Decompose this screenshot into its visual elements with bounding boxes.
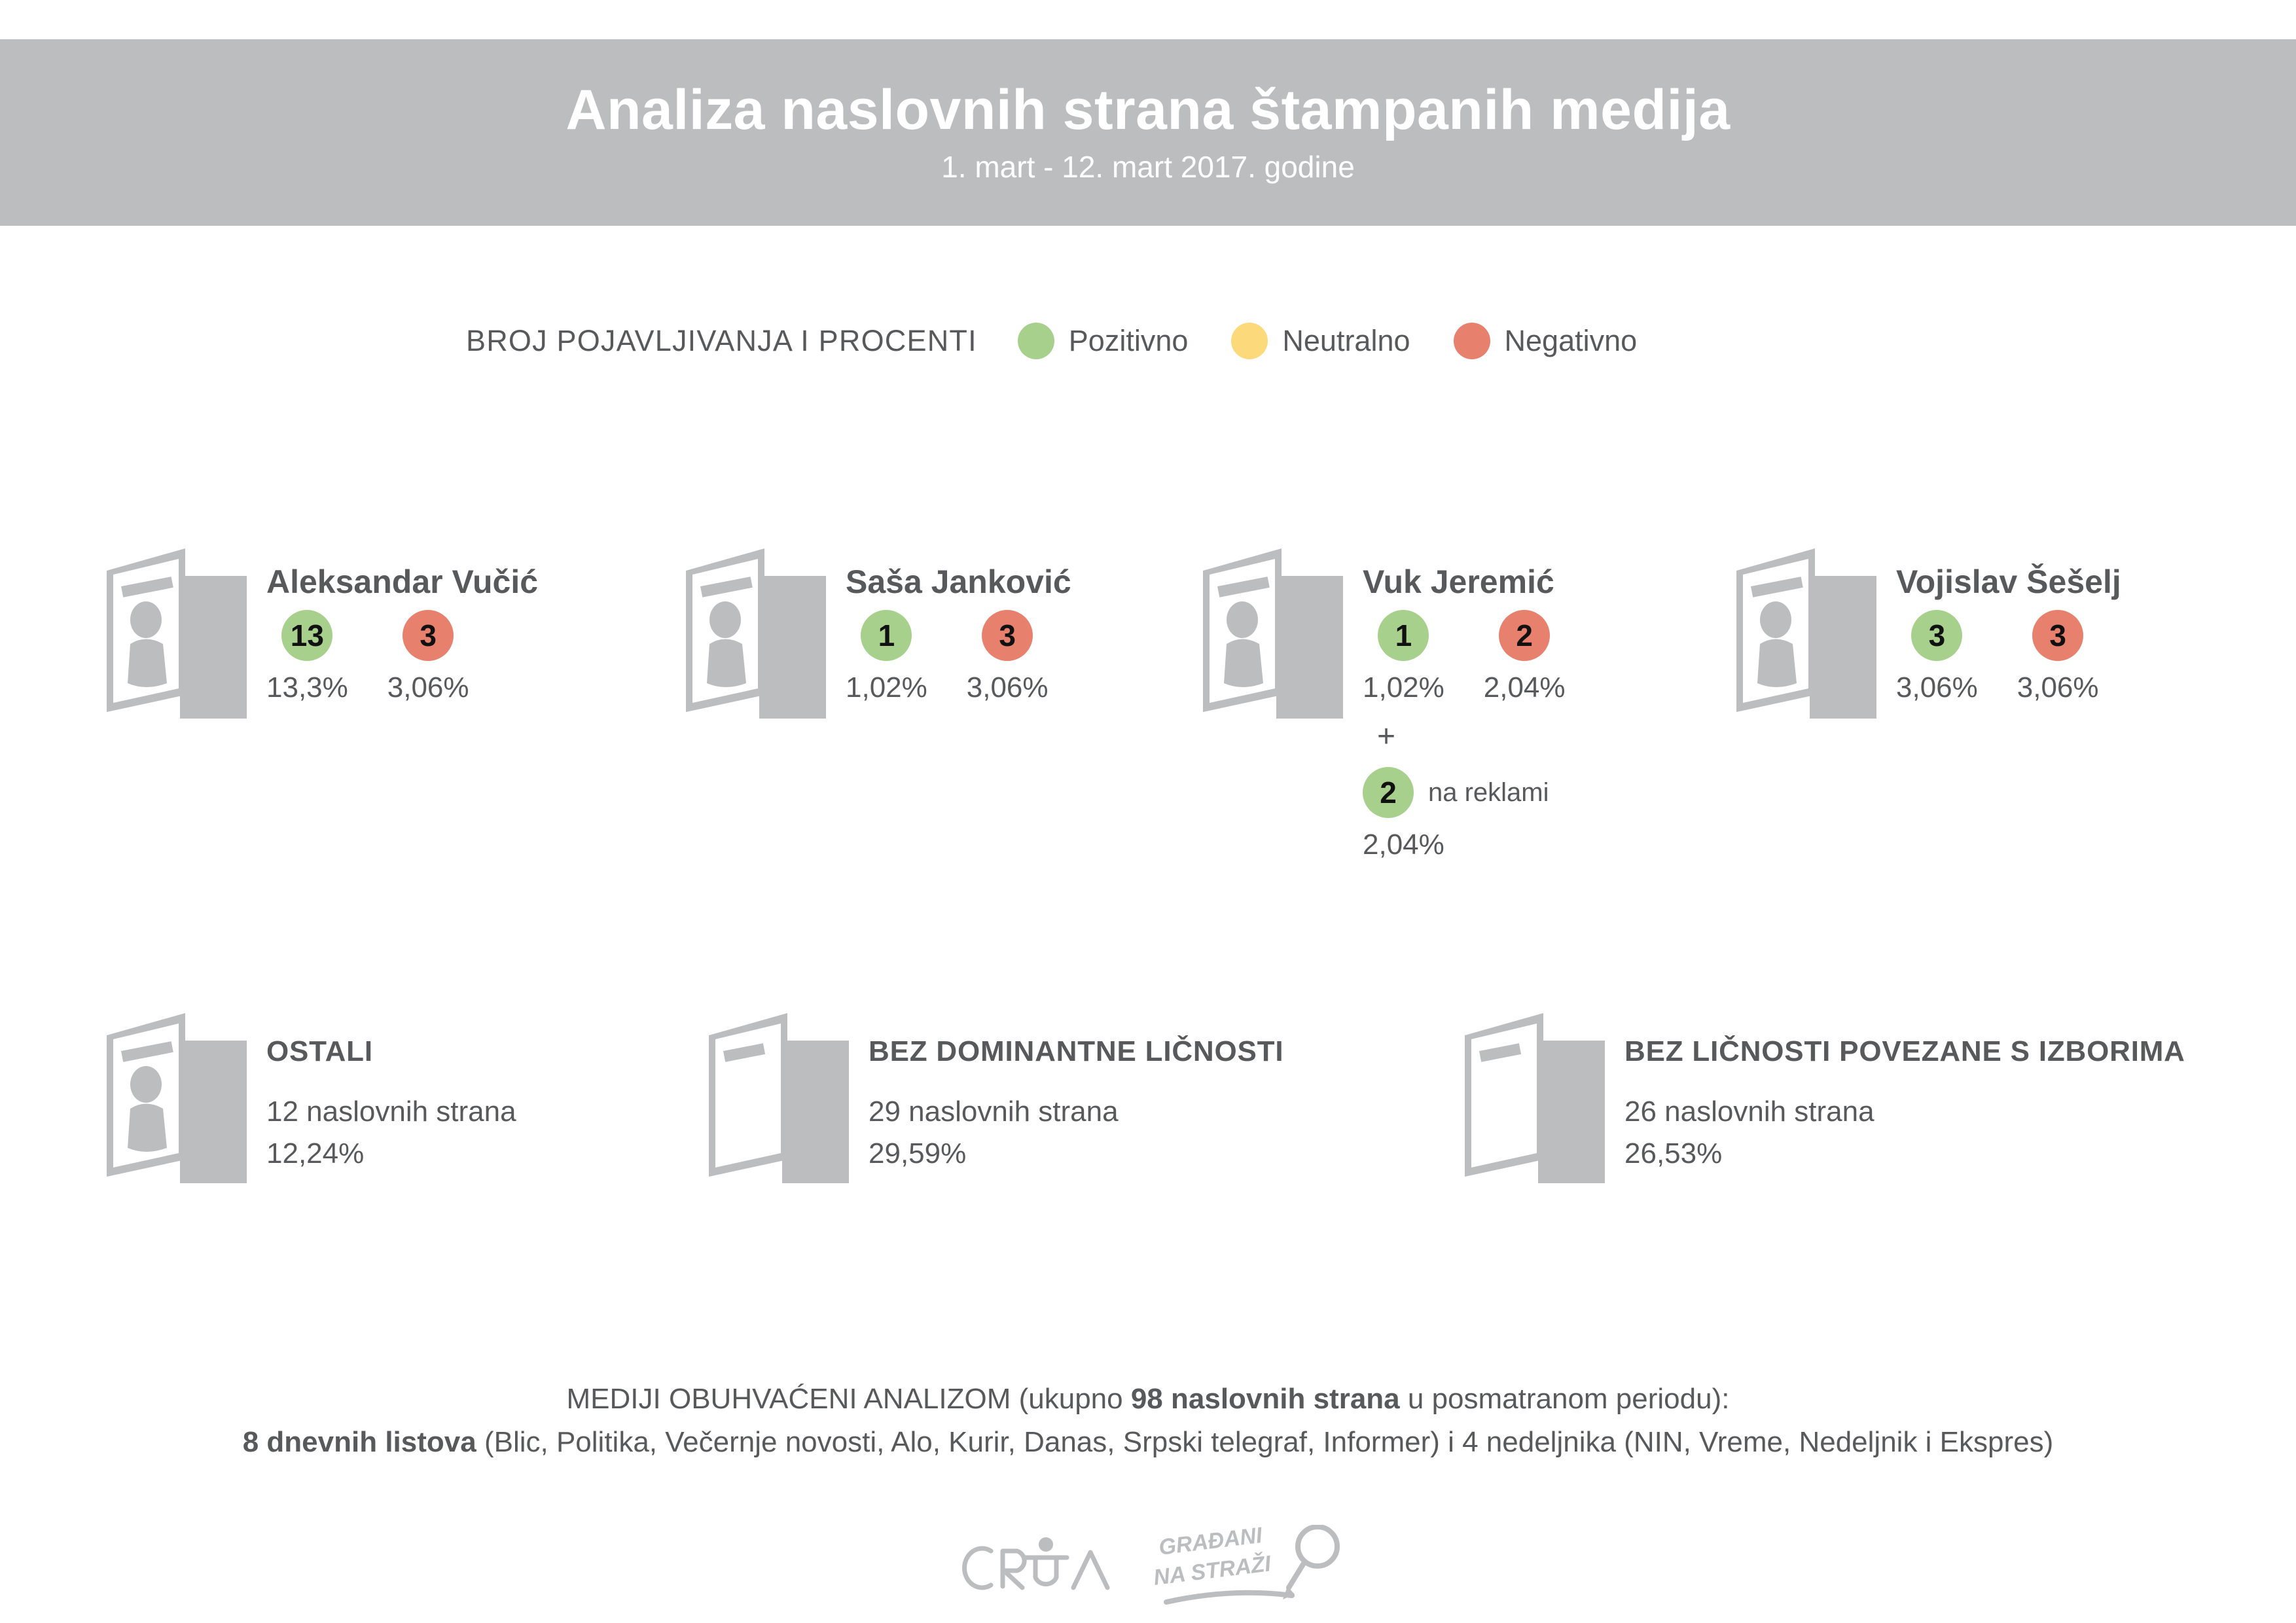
category-card-bez-dominantne-licnosti: BEZ DOMINANTNE LIČNOSTI 29 naslovnih str… — [704, 1008, 1283, 1188]
newspaper-empty-icon — [704, 1008, 854, 1188]
newspaper-with-person-icon — [101, 1008, 252, 1188]
legend-item-negativno: Negativno — [1454, 323, 1638, 359]
person-name: Saša Janković — [846, 563, 1088, 601]
negative-count-badge: 3 — [403, 610, 454, 661]
footer-note: MEDIJI OBUHVAĆENI ANALIZOM (ukupno 98 na… — [0, 1378, 2296, 1464]
legend-item-neutralno: Neutralno — [1231, 323, 1410, 359]
person-card-vuk-jeremic: Vuk Jeremić 1 1,02% 2 2,04% + 2 na rekla… — [1198, 543, 1605, 861]
person-body: Aleksandar Vučić 13 13,3% 3 3,06% — [266, 543, 538, 704]
category-title: BEZ LIČNOSTI POVEZANE S IZBORIMA — [1624, 1035, 2185, 1068]
footer-line1-suffix: u posmatranom periodu): — [1400, 1383, 1730, 1415]
advert-label: na reklami — [1428, 778, 1549, 808]
stat-bubbles: 1 1,02% 2 2,04% — [1363, 610, 1605, 704]
legend-label-pozitivno: Pozitivno — [1069, 324, 1189, 358]
negative-percent: 3,06% — [967, 671, 1049, 704]
footer-line1-prefix: MEDIJI OBUHVAĆENI ANALIZOM (ukupno — [567, 1383, 1131, 1415]
stat-positive: 1 1,02% — [846, 610, 927, 704]
category-body: BEZ LIČNOSTI POVEZANE S IZBORIMA 26 nasl… — [1624, 1008, 2185, 1170]
footer-line2-rest: (Blic, Politika, Večernje novosti, Alo, … — [476, 1426, 2054, 1458]
negative-count-badge: 2 — [1499, 610, 1550, 661]
circle-icon-negative — [1454, 323, 1490, 359]
footer-line2-dailies: 8 dnevnih listova — [243, 1426, 476, 1458]
person-stats-row: Aleksandar Vučić 13 13,3% 3 3,06% — [0, 543, 2296, 910]
positive-count-badge: 1 — [1378, 610, 1429, 661]
legend: BROJ POJAVLJIVANJA I PROCENTI Pozitivno … — [466, 318, 1680, 364]
negative-count-badge: 3 — [2032, 610, 2083, 661]
person-body: Vojislav Šešelj 3 3,06% 3 3,06% — [1896, 543, 2138, 704]
newspaper-with-person-icon — [1198, 543, 1348, 723]
negative-count-badge: 3 — [982, 610, 1033, 661]
person-name: Vuk Jeremić — [1363, 563, 1605, 601]
positive-percent: 13,3% — [266, 671, 348, 704]
legend-item-pozitivno: Pozitivno — [1018, 323, 1189, 359]
footer-line1-total: 98 naslovnih strana — [1131, 1383, 1400, 1415]
plus-sign: + — [1377, 721, 1395, 753]
footer-line-2: 8 dnevnih listova (Blic, Politika, Večer… — [0, 1421, 2296, 1464]
category-percent: 26,53% — [1624, 1137, 2185, 1170]
person-name: Vojislav Šešelj — [1896, 563, 2138, 601]
negative-percent: 3,06% — [2017, 671, 2099, 704]
positive-percent: 1,02% — [1363, 671, 1444, 704]
header-banner: Analiza naslovnih strana štampanih medij… — [0, 39, 2296, 226]
newspaper-with-person-icon — [681, 543, 831, 723]
negative-percent: 2,04% — [1484, 671, 1566, 704]
person-card-sasa-jankovic: Saša Janković 1 1,02% 3 3,06% — [681, 543, 1088, 723]
extra-advert-block: + 2 na reklami 2,04% — [1363, 721, 1605, 861]
positive-count-badge: 3 — [1911, 610, 1962, 661]
stat-negative: 3 3,06% — [387, 610, 469, 704]
person-body: Vuk Jeremić 1 1,02% 2 2,04% + 2 na rekla… — [1363, 543, 1605, 861]
category-title: OSTALI — [266, 1035, 516, 1068]
category-card-ostali: OSTALI 12 naslovnih strana 12,24% — [101, 1008, 516, 1188]
newspaper-with-person-icon — [1731, 543, 1882, 723]
circle-icon-neutral — [1231, 323, 1268, 359]
stat-positive: 13 13,3% — [266, 610, 348, 704]
category-count: 26 naslovnih strana — [1624, 1096, 2185, 1128]
category-body: OSTALI 12 naslovnih strana 12,24% — [266, 1008, 516, 1170]
newspaper-empty-icon — [1460, 1008, 1610, 1188]
category-count: 29 naslovnih strana — [869, 1096, 1283, 1128]
logo-strip: GRAĐANI NA STRAŽI — [0, 1525, 2296, 1613]
gradjani-na-strazi-logo: GRAĐANI NA STRAŽI — [1155, 1525, 1344, 1613]
advert-percent: 2,04% — [1363, 829, 1444, 861]
advert-count-badge: 2 — [1363, 767, 1414, 818]
positive-count-badge: 13 — [281, 610, 332, 661]
stat-negative: 2 2,04% — [1484, 610, 1566, 704]
page-title: Analiza naslovnih strana štampanih medij… — [565, 80, 1730, 139]
stat-negative: 3 3,06% — [2017, 610, 2099, 704]
category-percent: 12,24% — [266, 1137, 516, 1170]
negative-percent: 3,06% — [387, 671, 469, 704]
stat-bubbles: 3 3,06% 3 3,06% — [1896, 610, 2138, 704]
stat-negative: 3 3,06% — [967, 610, 1049, 704]
category-percent: 29,59% — [869, 1137, 1283, 1170]
legend-caption: BROJ POJAVLJIVANJA I PROCENTI — [466, 324, 977, 358]
positive-percent: 3,06% — [1896, 671, 1978, 704]
positive-count-badge: 1 — [861, 610, 912, 661]
stat-positive: 3 3,06% — [1896, 610, 1978, 704]
category-title: BEZ DOMINANTNE LIČNOSTI — [869, 1035, 1283, 1068]
category-card-bez-licnosti-povezane-s-izborima: BEZ LIČNOSTI POVEZANE S IZBORIMA 26 nasl… — [1460, 1008, 2185, 1188]
legend-label-negativno: Negativno — [1505, 324, 1638, 358]
footer-line-1: MEDIJI OBUHVAĆENI ANALIZOM (ukupno 98 na… — [0, 1378, 2296, 1421]
newspaper-with-person-icon — [101, 543, 252, 723]
extra-advert-row: 2 na reklami — [1363, 767, 1549, 818]
person-card-vojislav-seselj: Vojislav Šešelj 3 3,06% 3 3,06% — [1731, 543, 2138, 723]
positive-percent: 1,02% — [846, 671, 927, 704]
person-card-aleksandar-vucic: Aleksandar Vučić 13 13,3% 3 3,06% — [101, 543, 538, 723]
person-body: Saša Janković 1 1,02% 3 3,06% — [846, 543, 1088, 704]
stat-positive: 1 1,02% — [1363, 610, 1444, 704]
legend-label-neutralno: Neutralno — [1282, 324, 1410, 358]
crta-logo — [952, 1531, 1115, 1607]
category-stats-row: OSTALI 12 naslovnih strana 12,24% — [0, 1008, 2296, 1224]
page-subtitle: 1. mart - 12. mart 2017. godine — [941, 149, 1355, 185]
stat-bubbles: 1 1,02% 3 3,06% — [846, 610, 1088, 704]
person-name: Aleksandar Vučić — [266, 563, 538, 601]
category-count: 12 naslovnih strana — [266, 1096, 516, 1128]
circle-icon-positive — [1018, 323, 1054, 359]
category-body: BEZ DOMINANTNE LIČNOSTI 29 naslovnih str… — [869, 1008, 1283, 1170]
stat-bubbles: 13 13,3% 3 3,06% — [266, 610, 538, 704]
